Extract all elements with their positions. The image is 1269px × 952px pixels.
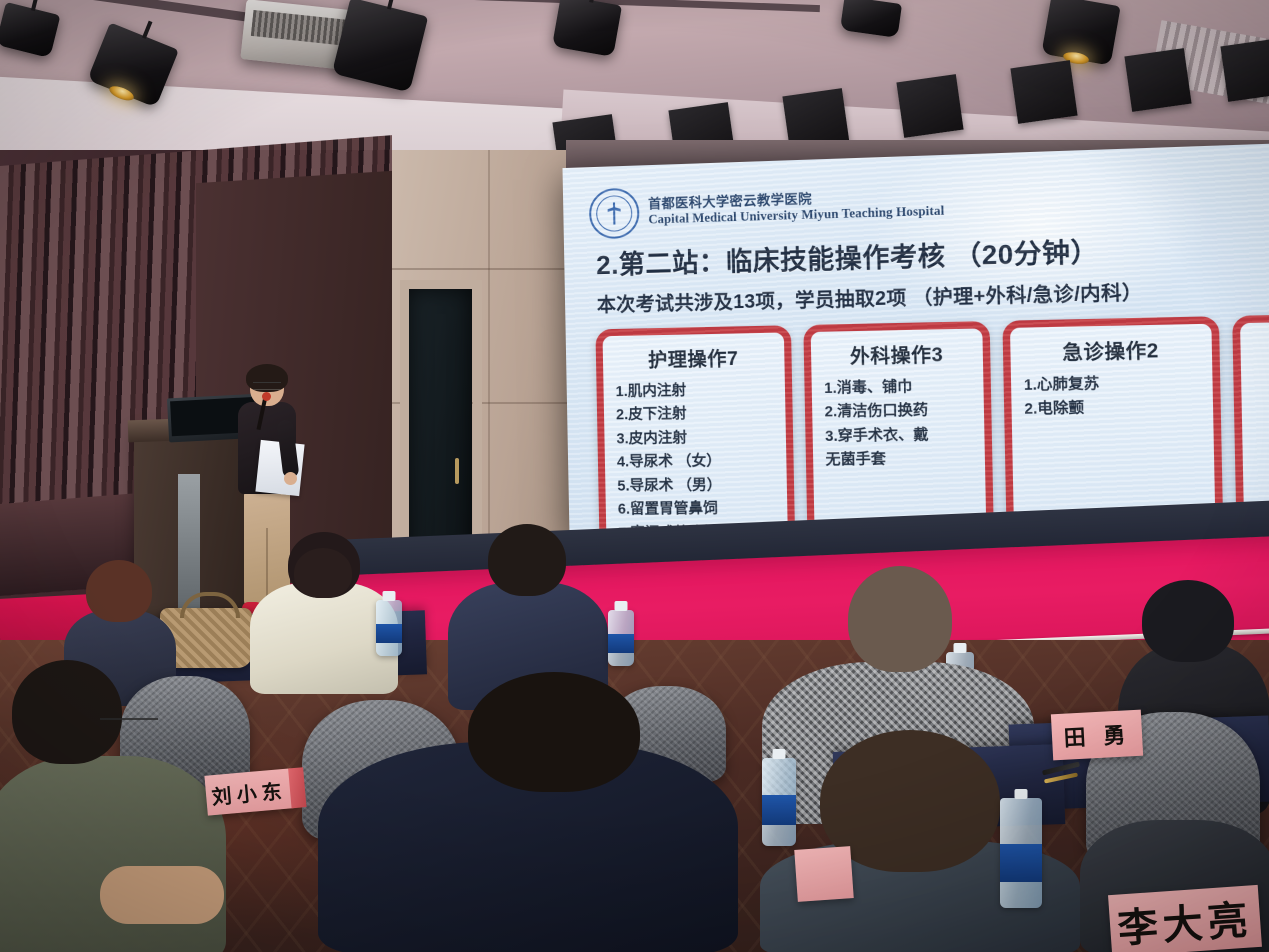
box-item: 4.导尿术 （女）	[617, 450, 775, 475]
water-bottle	[762, 758, 796, 846]
box-item: 3.皮内注射	[616, 426, 774, 452]
water-bottle	[608, 610, 634, 666]
audience-member	[318, 676, 748, 952]
audience-member	[0, 660, 232, 952]
glasses-icon	[100, 718, 158, 726]
box-heading: 外科操作3	[823, 339, 970, 369]
box-item: 2.清洁伤口换药	[824, 399, 971, 425]
box-item: 3.穿手术衣、戴	[825, 424, 972, 450]
stage-spotlight	[552, 0, 622, 57]
box-heading: 护理操作7	[615, 343, 773, 373]
conference-hall-photo: 首都医科大学密云教学医院 Capital Medical University …	[0, 0, 1269, 952]
hospital-emblem-icon	[589, 188, 640, 240]
box-item: 2.皮下注射	[616, 402, 774, 428]
placard-name: 刘小东	[210, 774, 287, 809]
procedure-box-surgery: 外科操作3 1.消毒、铺巾 2.清洁伤口换药 3.穿手术衣、戴 无菌手套	[803, 321, 994, 536]
door-handle[interactable]	[455, 458, 459, 484]
projection-screen: 首都医科大学密云教学医院 Capital Medical University …	[562, 142, 1269, 536]
procedure-box-group: 护理操作7 1.肌内注射 2.皮下注射 3.皮内注射 4.导尿术 （女） 5.导…	[595, 314, 1269, 536]
ceiling-baffle	[1220, 38, 1269, 102]
water-bottle	[1000, 798, 1042, 908]
placard-name: 李大亮	[1116, 887, 1255, 952]
placard-name: 田 勇	[1063, 717, 1131, 752]
stage-spotlight	[332, 0, 428, 93]
presentation-slide: 首都医科大学密云教学医院 Capital Medical University …	[562, 142, 1269, 536]
box-item: 1.心肺复苏	[1024, 371, 1200, 398]
stage-spotlight	[0, 2, 60, 58]
stage-spotlight	[840, 0, 902, 38]
box-item: 5.导尿术 （男）	[617, 474, 775, 499]
name-placard: 田 勇	[1051, 710, 1143, 761]
box-item: 1.消毒、铺巾	[824, 375, 971, 401]
box-heading: 急诊操作2	[1023, 335, 1199, 366]
procedure-box-nursing: 护理操作7 1.肌内注射 2.皮下注射 3.皮内注射 4.导尿术 （女） 5.导…	[595, 325, 795, 536]
stage-spotlight	[1041, 0, 1120, 66]
water-bottle	[376, 600, 402, 656]
audience-hand	[100, 866, 224, 924]
box-item: 无菌手套	[825, 448, 972, 474]
box-item: 2.电除颤	[1024, 396, 1200, 423]
box-item: 1.肌内注射	[615, 379, 773, 405]
name-placard: 李大亮	[1108, 885, 1262, 952]
ceiling-baffle	[1010, 60, 1077, 124]
name-placard: 刘小东	[204, 768, 293, 815]
box-item: 6.留置胃管鼻饲	[618, 498, 776, 523]
name-placard-partial	[794, 846, 853, 902]
ceiling-baffle	[1124, 48, 1191, 112]
ceiling-baffle	[896, 74, 963, 138]
glasses-icon	[253, 382, 281, 390]
